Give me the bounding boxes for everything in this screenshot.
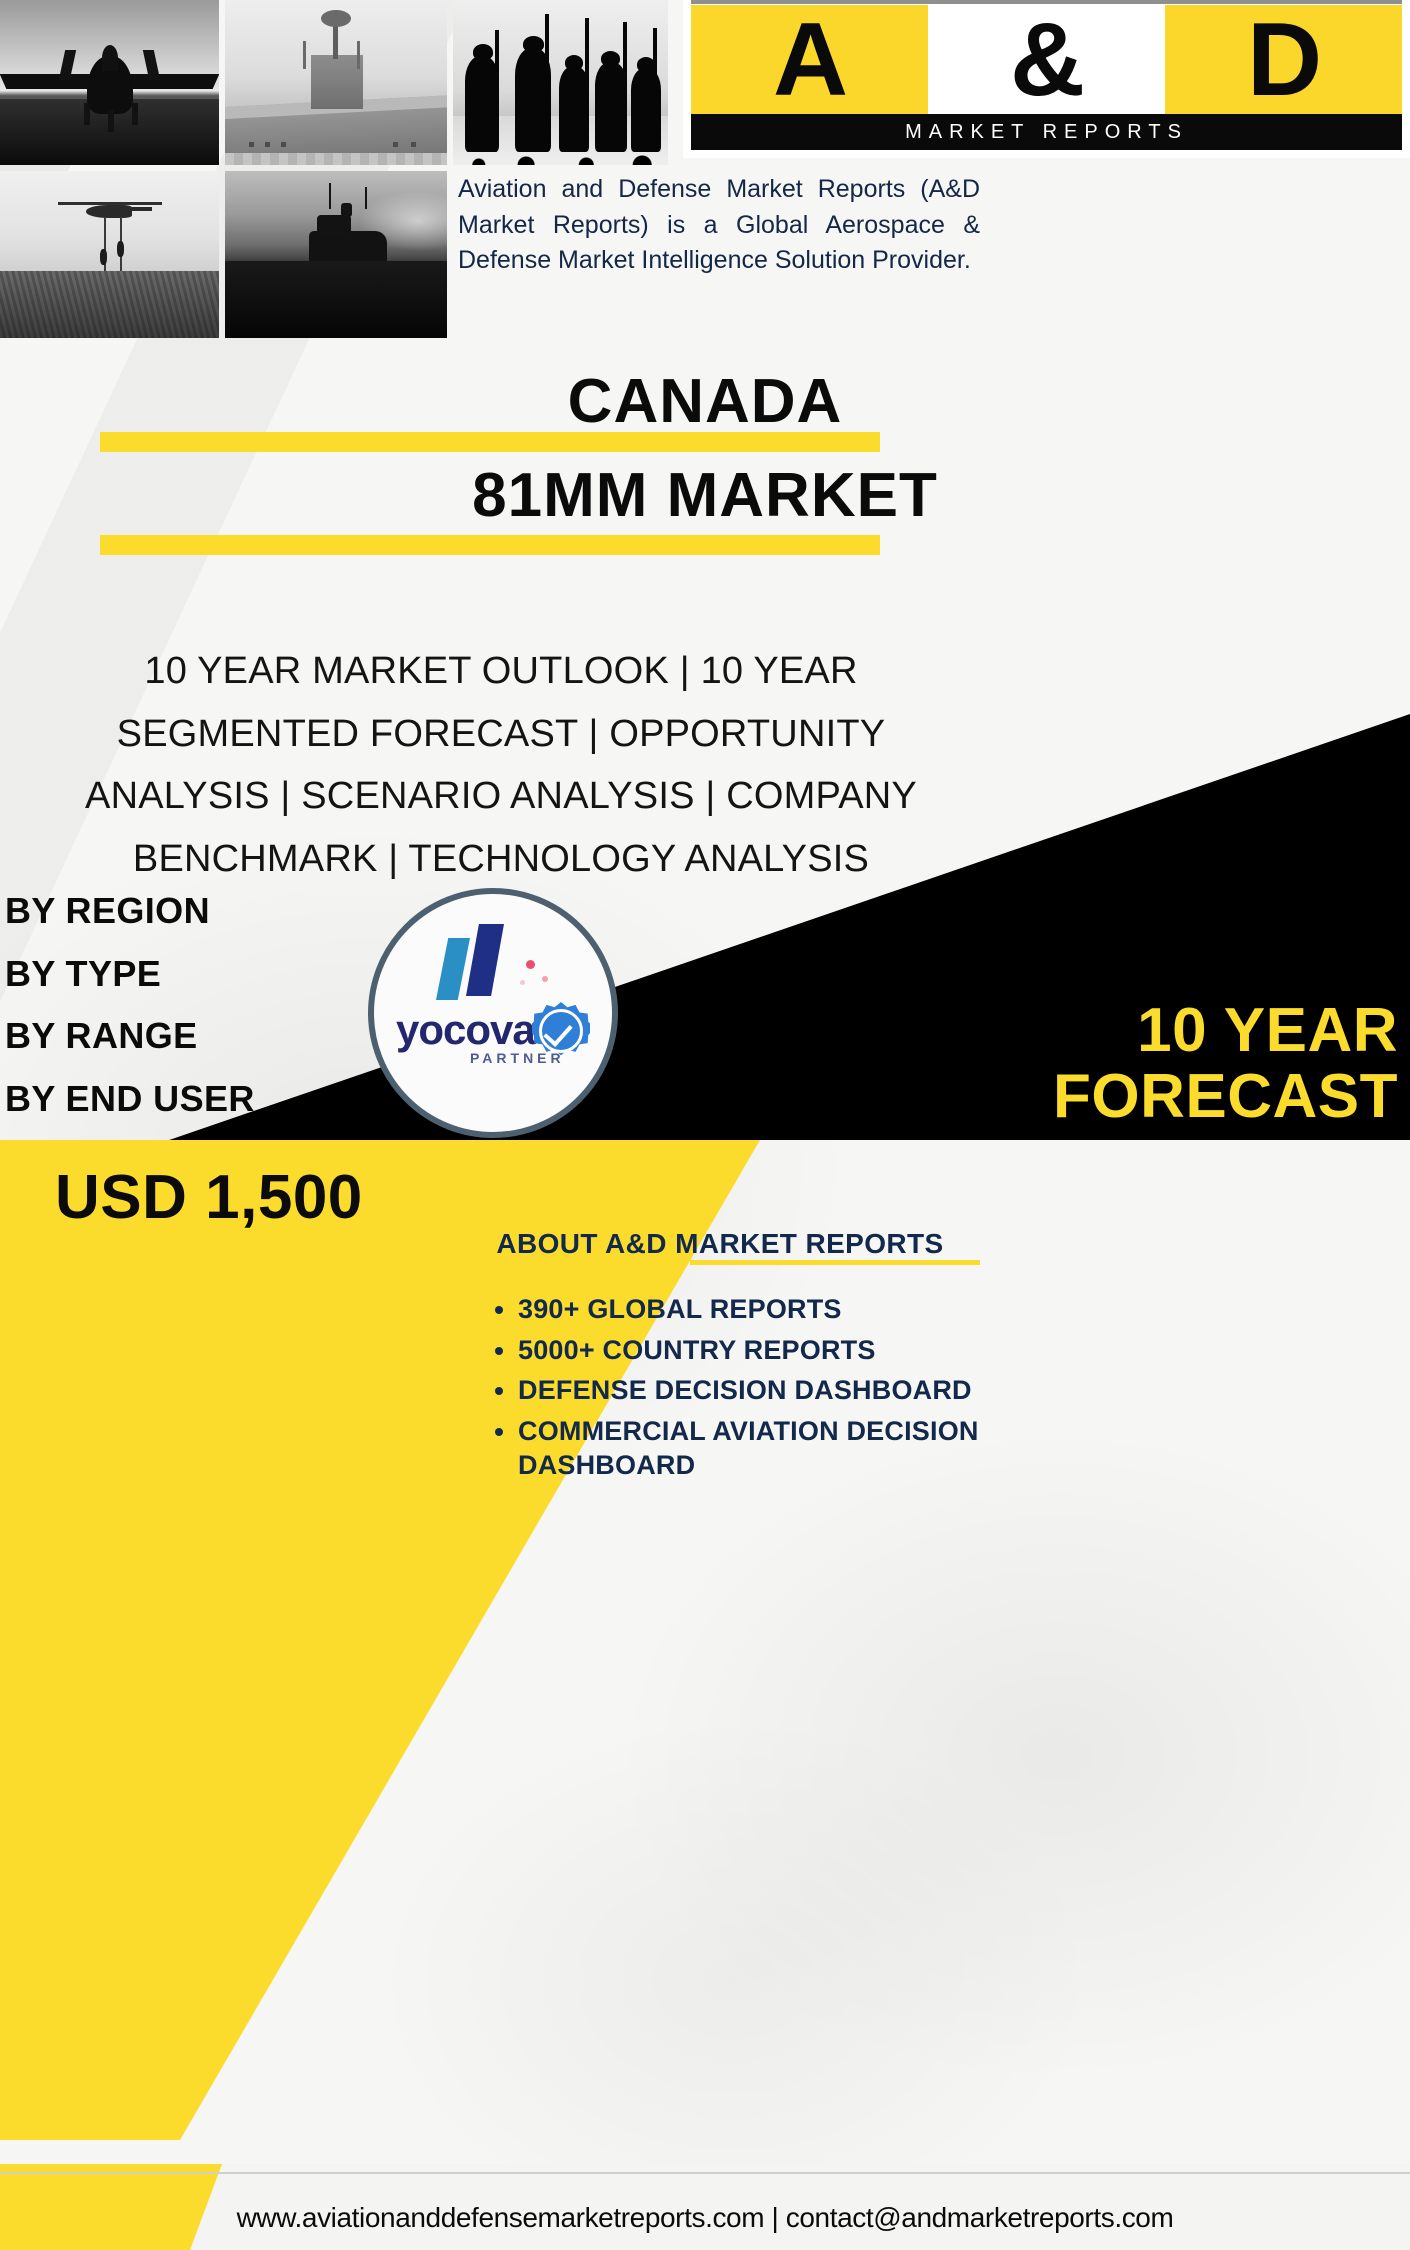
report-poster: A & D MARKET REPORTS Aviation and Defens… bbox=[0, 0, 1410, 2250]
segment-item-type: BY TYPE bbox=[5, 943, 255, 1006]
forecast-line-2: FORECAST bbox=[878, 1066, 1398, 1128]
logo-letter-d: D bbox=[1247, 8, 1320, 112]
logo-cell-ampersand: & bbox=[928, 5, 1165, 115]
about-item-country-reports: 5000+ COUNTRY REPORTS bbox=[518, 1333, 998, 1368]
photo-soldiers-silhouette bbox=[453, 0, 668, 165]
yocova-dot-3-icon bbox=[520, 980, 525, 985]
photo-helicopter-fast-rope bbox=[0, 171, 219, 338]
logo-subtitle-bar: MARKET REPORTS bbox=[691, 114, 1402, 150]
logo-subtitle: MARKET REPORTS bbox=[905, 121, 1188, 144]
title-rule-top bbox=[100, 432, 880, 452]
forecast-badge: 10 YEAR FORECAST bbox=[878, 1000, 1398, 1128]
about-section-title: ABOUT A&D MARKET REPORTS bbox=[460, 1228, 980, 1260]
about-item-defense-dashboard: DEFENSE DECISION DASHBOARD bbox=[518, 1373, 998, 1408]
about-title-underline bbox=[690, 1260, 980, 1265]
about-item-global-reports: 390+ GLOBAL REPORTS bbox=[518, 1292, 998, 1327]
features-list-text: 10 YEAR MARKET OUTLOOK | 10 YEAR SEGMENT… bbox=[36, 640, 966, 891]
footer-bar: www.aviationanddefensemarketreports.com … bbox=[0, 2164, 1410, 2250]
yocova-dot-1-icon bbox=[526, 960, 535, 969]
logo-cell-d: D bbox=[1165, 5, 1402, 115]
photo-aircraft-carrier bbox=[225, 0, 447, 165]
brand-logo: A & D MARKET REPORTS bbox=[683, 0, 1410, 158]
forecast-line-1: 10 YEAR bbox=[1137, 996, 1398, 1065]
page-title-market: 81MM MARKET bbox=[0, 460, 1410, 531]
logo-cell-a: A bbox=[691, 5, 928, 115]
footer-contact-text: www.aviationanddefensemarketreports.com … bbox=[0, 2202, 1410, 2234]
about-item-aviation-dashboard: COMMERCIAL AVIATION DECISION DASHBOARD bbox=[518, 1414, 998, 1483]
footer-divider bbox=[0, 2172, 1410, 2174]
yocova-dot-2-icon bbox=[542, 976, 548, 982]
yocova-wordmark: yocova bbox=[396, 1006, 535, 1054]
photo-fighter-jet-on-deck bbox=[0, 0, 219, 165]
logo-letter-a: A bbox=[773, 8, 846, 112]
logo-letter-ampersand: & bbox=[1010, 8, 1083, 112]
about-bullet-list: 390+ GLOBAL REPORTS 5000+ COUNTRY REPORT… bbox=[492, 1292, 998, 1489]
photo-collage bbox=[0, 0, 668, 338]
company-intro-text: Aviation and Defense Market Reports (A&D… bbox=[458, 172, 980, 279]
yocova-chevron-light-icon bbox=[436, 938, 470, 1000]
verified-checkmark-icon bbox=[532, 1002, 590, 1060]
segment-item-range: BY RANGE bbox=[5, 1005, 255, 1068]
segment-item-region: BY REGION bbox=[5, 880, 255, 943]
price-value: USD 1,500 bbox=[55, 1162, 363, 1233]
photo-armored-vehicle-dusk bbox=[225, 171, 447, 338]
segment-item-end-user: BY END USER bbox=[5, 1068, 255, 1131]
page-title-country: CANADA bbox=[0, 366, 1410, 437]
title-rule-bottom bbox=[100, 535, 880, 555]
yocova-chevron-dark-icon bbox=[466, 924, 504, 996]
yocova-partner-badge: yocova PARTNER bbox=[368, 888, 618, 1138]
segmentation-list: BY REGION BY TYPE BY RANGE BY END USER bbox=[5, 880, 255, 1131]
